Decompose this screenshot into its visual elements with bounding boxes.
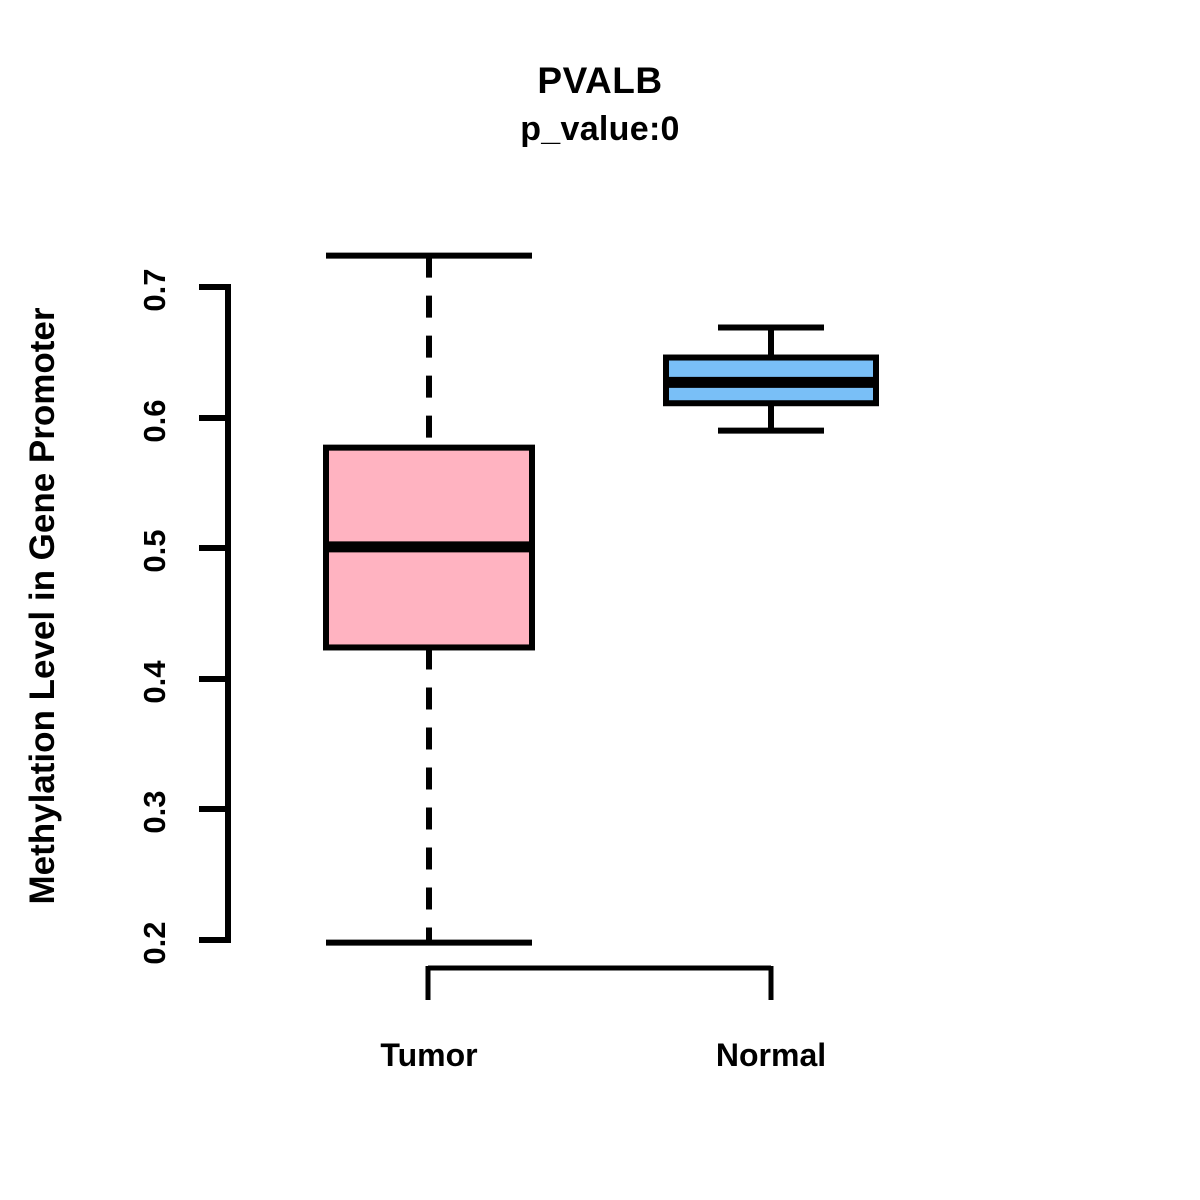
box-tumor[interactable] xyxy=(323,256,535,943)
boxplot-figure: PVALB p_value:0 Methylation Level in Gen… xyxy=(0,0,1200,1200)
box-normal[interactable] xyxy=(663,327,879,430)
y-axis xyxy=(199,287,231,940)
plot-canvas xyxy=(0,0,1200,1200)
x-axis xyxy=(428,966,771,1000)
